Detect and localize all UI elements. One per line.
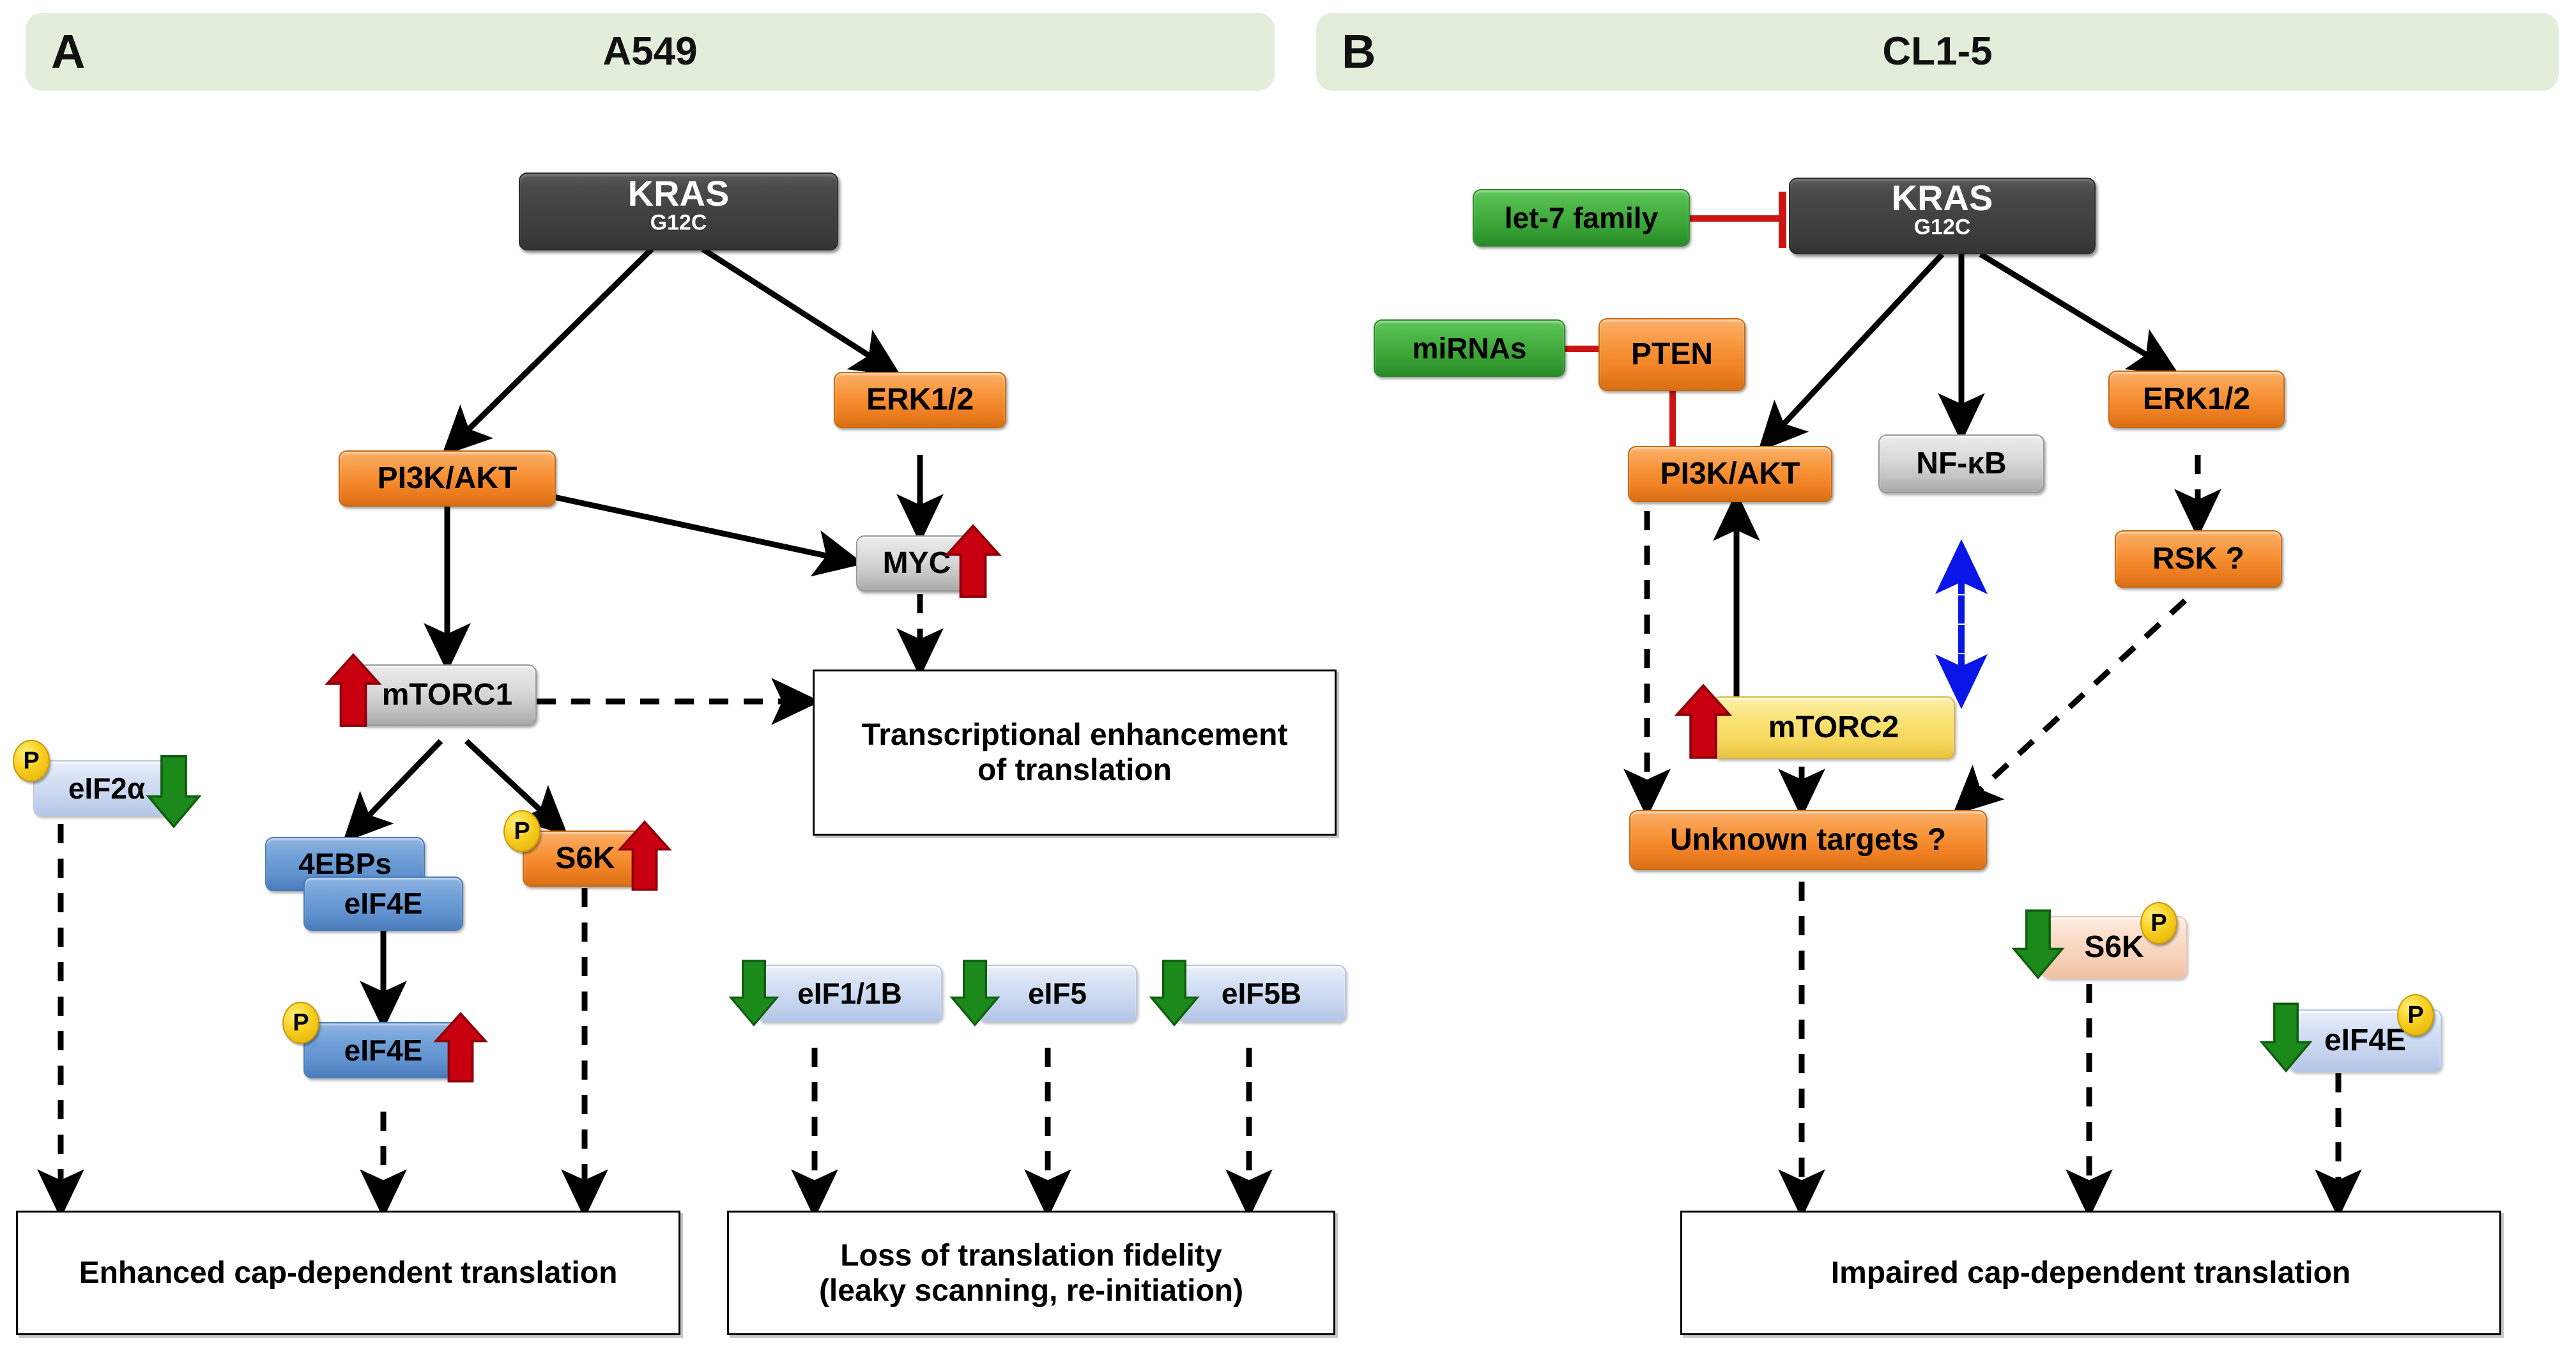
s6k-upregulated-arrow-icon: [617, 819, 672, 898]
node-eif4e-b-label: eIF4E: [2320, 1025, 2410, 1057]
node-eif1-1b[interactable]: eIF1/1B: [757, 965, 942, 1022]
node-eif4e-complex-label: eIF4E: [341, 889, 427, 919]
outcome-impaired-translation: Impaired cap-dependent translation: [1680, 1211, 2501, 1335]
node-kras-b-sup: G12C: [1914, 215, 1971, 239]
panel-b-title: CL1-5: [1316, 13, 2559, 91]
s6k-b-downregulated-arrow-icon: [2011, 906, 2065, 984]
node-let7-family[interactable]: let-7 family: [1473, 189, 1690, 247]
node-kras-a-sup: G12C: [650, 210, 707, 234]
node-nfkb-label: NF-κB: [1912, 448, 2010, 480]
node-erk-a-label: ERK1/2: [862, 385, 977, 416]
phospho-badge-s6k-a: P: [503, 810, 540, 852]
node-pten-label: PTEN: [1627, 339, 1717, 371]
node-pi3k-akt-a-label: PI3K/AKT: [374, 463, 521, 494]
node-let7-family-label: let-7 family: [1501, 203, 1662, 233]
node-mtorc1-label: mTORC1: [378, 680, 517, 711]
node-s6k-b-label: S6K: [2080, 932, 2147, 963]
phospho-badge-eif4e-b: P: [2397, 994, 2434, 1036]
phospho-badge-eif4e: P: [282, 1002, 319, 1044]
eif4e-upregulated-arrow-icon: [433, 1011, 488, 1089]
phospho-badge-eif2alpha: P: [13, 740, 50, 782]
node-mirnas-label: miRNAs: [1409, 333, 1531, 364]
node-4ebps-label: 4EBPs: [295, 849, 395, 879]
node-pi3k-akt-a[interactable]: PI3K/AKT: [339, 450, 556, 507]
node-erk-a[interactable]: ERK1/2: [834, 372, 1006, 428]
node-unknown-targets[interactable]: Unknown targets ?: [1629, 810, 1987, 870]
node-eif2alpha-label: eIF2α: [65, 774, 149, 804]
node-eif5[interactable]: eIF5: [977, 965, 1137, 1022]
outcome-transcriptional-enhancement-label: Transcriptional enhancement of translati…: [862, 717, 1288, 788]
node-pten[interactable]: PTEN: [1598, 318, 1745, 391]
node-pi3k-akt-b[interactable]: PI3K/AKT: [1628, 446, 1832, 502]
node-kras-b-label: KRAS: [1888, 180, 1997, 216]
panel-a-title: A549: [26, 13, 1275, 91]
node-mirnas[interactable]: miRNAs: [1374, 319, 1565, 377]
node-erk-b[interactable]: ERK1/2: [2108, 371, 2285, 428]
figure-canvas: A A549 B CL1-5 KRASG12C PI3K/AKT ERK1/2 …: [0, 0, 2576, 1355]
node-eif1-1b-label: eIF1/1B: [793, 979, 906, 1009]
eif1-1b-downregulated-arrow-icon: [728, 956, 779, 1032]
mtorc2-upregulated-arrow-icon: [1674, 684, 1733, 765]
node-kras-a-label: KRAS: [624, 175, 733, 211]
node-unknown-targets-label: Unknown targets ?: [1666, 825, 1950, 856]
outcome-loss-fidelity-label: Loss of translation fidelity (leaky scan…: [819, 1238, 1243, 1308]
myc-upregulated-arrow-icon: [944, 524, 1002, 604]
node-kras-a[interactable]: KRASG12C: [519, 172, 838, 250]
node-eif4e-complex[interactable]: eIF4E: [303, 877, 463, 931]
eif5-downregulated-arrow-icon: [949, 956, 1000, 1032]
eif4e-b-downregulated-arrow-icon: [2259, 999, 2313, 1078]
outcome-impaired-translation-label: Impaired cap-dependent translation: [1831, 1255, 2350, 1290]
node-s6k-a-label: S6K: [551, 843, 618, 875]
node-kras-b[interactable]: KRASG12C: [1789, 178, 2096, 254]
node-pi3k-akt-b-label: PI3K/AKT: [1657, 459, 1804, 490]
outcome-enhanced-translation: Enhanced cap-dependent translation: [16, 1211, 680, 1335]
node-mtorc1[interactable]: mTORC1: [358, 664, 537, 726]
outcome-loss-fidelity: Loss of translation fidelity (leaky scan…: [727, 1211, 1335, 1335]
eif5b-downregulated-arrow-icon: [1149, 956, 1200, 1032]
node-mtorc2-label: mTORC2: [1765, 712, 1903, 744]
node-myc-label: MYC: [879, 548, 955, 579]
mtorc1-upregulated-arrow-icon: [325, 653, 382, 733]
node-rsk[interactable]: RSK ?: [2115, 530, 2282, 588]
node-eif4e-phospho-label: eIF4E: [341, 1036, 427, 1066]
node-rsk-label: RSK ?: [2149, 544, 2248, 575]
node-nfkb[interactable]: NF-κB: [1878, 434, 2044, 493]
node-eif5b[interactable]: eIF5B: [1177, 965, 1346, 1022]
eif2alpha-downregulated-arrow-icon: [146, 753, 202, 832]
outcome-enhanced-translation-label: Enhanced cap-dependent translation: [79, 1255, 618, 1290]
node-mtorc2[interactable]: mTORC2: [1712, 696, 1955, 759]
node-erk-b-label: ERK1/2: [2139, 384, 2254, 415]
node-eif5-label: eIF5: [1024, 979, 1091, 1009]
outcome-transcriptional-enhancement: Transcriptional enhancement of translati…: [813, 670, 1337, 836]
node-eif5b-label: eIF5B: [1218, 979, 1305, 1009]
phospho-badge-s6k-b: P: [2140, 902, 2177, 944]
